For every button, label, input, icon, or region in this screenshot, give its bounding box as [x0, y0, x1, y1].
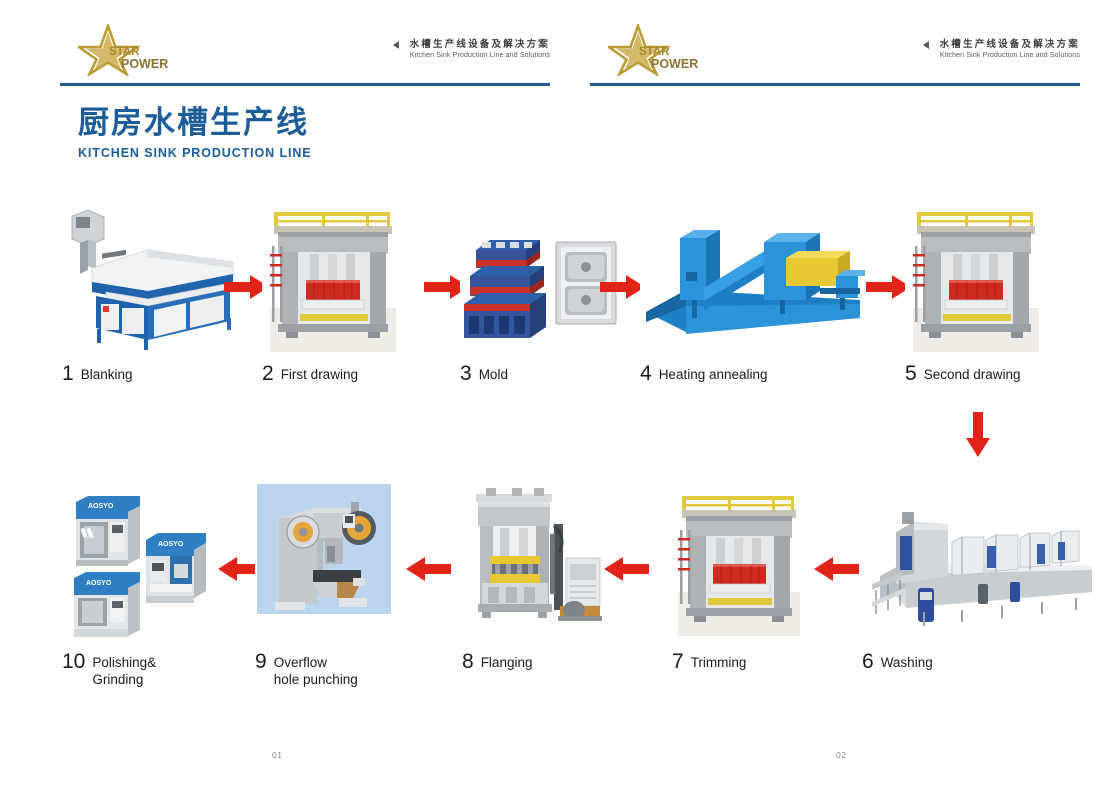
- step-number: 4: [640, 364, 652, 384]
- header-rule: [590, 83, 1080, 86]
- flow-step-8: 8 Flanging: [462, 484, 637, 734]
- process-flow: 1 Blanking: [0, 196, 1120, 734]
- flow-arrow-5-6: [965, 412, 991, 458]
- step-number: 2: [262, 364, 274, 384]
- step-label: Washing: [881, 652, 933, 671]
- header-tagline-right: 水槽生产线设备及解决方案 Kitchen Sink Production Lin…: [923, 38, 1080, 61]
- step-label: First drawing: [281, 364, 358, 383]
- hydraulic-press-image: [262, 196, 437, 356]
- left-triangle-icon: [923, 41, 929, 49]
- step-number: 9: [255, 652, 267, 672]
- page-number-right: 02: [836, 750, 846, 760]
- flow-step-7-caption: 7 Trimming: [672, 652, 882, 672]
- flow-arrow-8-9: [406, 556, 452, 582]
- step-number: 1: [62, 364, 74, 384]
- step-number: 5: [905, 364, 917, 384]
- flow-step-5: 5 Second drawing: [905, 196, 1080, 446]
- machine-brand-text: AOSYO: [86, 580, 112, 587]
- step-number: 7: [672, 652, 684, 672]
- flow-step-2: 2 First drawing: [262, 196, 437, 446]
- header-rule: [60, 83, 550, 86]
- page-header-left: STAR POWER 水槽生产线设备及解决方案 Kitchen Sink Pro…: [60, 22, 550, 86]
- punch-press-image: [255, 484, 430, 644]
- step-label: Second drawing: [924, 364, 1021, 383]
- star-power-logo: STAR POWER: [78, 24, 174, 76]
- flow-arrow-6-7: [814, 556, 860, 582]
- flow-step-9: 9 Overflowhole punching: [255, 484, 430, 734]
- star-power-logo-2: STAR POWER: [608, 24, 704, 76]
- flow-step-4-caption: 4 Heating annealing: [640, 364, 850, 384]
- hydraulic-press-image-2: [905, 196, 1080, 356]
- page-number-left: 01: [272, 750, 282, 760]
- step-number: 10: [62, 652, 85, 672]
- step-number: 6: [862, 652, 874, 672]
- flow-arrow-7-8: [604, 556, 650, 582]
- page-title-en: KITCHEN SINK PRODUCTION LINE: [78, 146, 312, 160]
- header-tagline-left: 水槽生产线设备及解决方案 Kitchen Sink Production Lin…: [393, 38, 550, 61]
- flow-step-8-caption: 8 Flanging: [462, 652, 672, 672]
- flow-step-9-caption: 9 Overflowhole punching: [255, 652, 465, 688]
- flow-step-5-caption: 5 Second drawing: [905, 364, 1115, 384]
- flow-step-1-caption: 1 Blanking: [62, 364, 272, 384]
- flow-step-6: 6 Washing: [862, 484, 1092, 734]
- polishing-machines-image: AOSYO AOSYO: [62, 484, 237, 644]
- step-label: Heating annealing: [659, 364, 768, 383]
- step-label: Flanging: [481, 652, 533, 671]
- page-title: 厨房水槽生产线 KITCHEN SINK PRODUCTION LINE: [78, 104, 312, 160]
- step-label: Polishing&Grinding: [92, 652, 156, 688]
- tagline-cn: 水槽生产线设备及解决方案: [410, 38, 550, 51]
- machine-brand-text: AOSYO: [158, 541, 184, 548]
- left-triangle-icon: [393, 41, 399, 49]
- brochure-page: STAR POWER 水槽生产线设备及解决方案 Kitchen Sink Pro…: [0, 0, 1120, 792]
- page-header-right: STAR POWER 水槽生产线设备及解决方案 Kitchen Sink Pro…: [590, 22, 1080, 86]
- flow-step-6-caption: 6 Washing: [862, 652, 1072, 672]
- flow-step-10-caption: 10 Polishing&Grinding: [62, 652, 272, 688]
- flow-step-10: AOSYO AOSYO: [62, 484, 237, 734]
- flow-row-1: 1 Blanking: [0, 196, 1120, 446]
- tagline-cn: 水槽生产线设备及解决方案: [940, 38, 1080, 51]
- flow-step-3-caption: 3 Mold: [460, 364, 670, 384]
- brand-name-line2: POWER: [121, 57, 168, 71]
- tagline-en: Kitchen Sink Production Line and Solutio…: [940, 51, 1080, 61]
- step-label: Overflowhole punching: [274, 652, 358, 688]
- flow-step-3: 3 Mold: [460, 196, 635, 446]
- step-label: Blanking: [81, 364, 133, 383]
- step-number: 3: [460, 364, 472, 384]
- flow-step-2-caption: 2 First drawing: [262, 364, 472, 384]
- machine-brand-text: AOSYO: [88, 503, 114, 510]
- step-label: Trimming: [691, 652, 747, 671]
- annealing-furnace-image: [640, 196, 865, 356]
- step-label: Mold: [479, 364, 508, 383]
- flow-row-2: AOSYO AOSYO: [0, 484, 1120, 734]
- flow-step-4: 4 Heating annealing: [640, 196, 865, 446]
- tagline-en: Kitchen Sink Production Line and Solutio…: [410, 51, 550, 61]
- blanking-machine-image: [62, 196, 237, 356]
- washing-line-image: [862, 484, 1092, 644]
- flow-step-1: 1 Blanking: [62, 196, 237, 446]
- brand-name-line2: POWER: [651, 57, 698, 71]
- flow-step-7: 7 Trimming: [672, 484, 847, 734]
- step-number: 8: [462, 652, 474, 672]
- page-title-cn: 厨房水槽生产线: [78, 104, 312, 142]
